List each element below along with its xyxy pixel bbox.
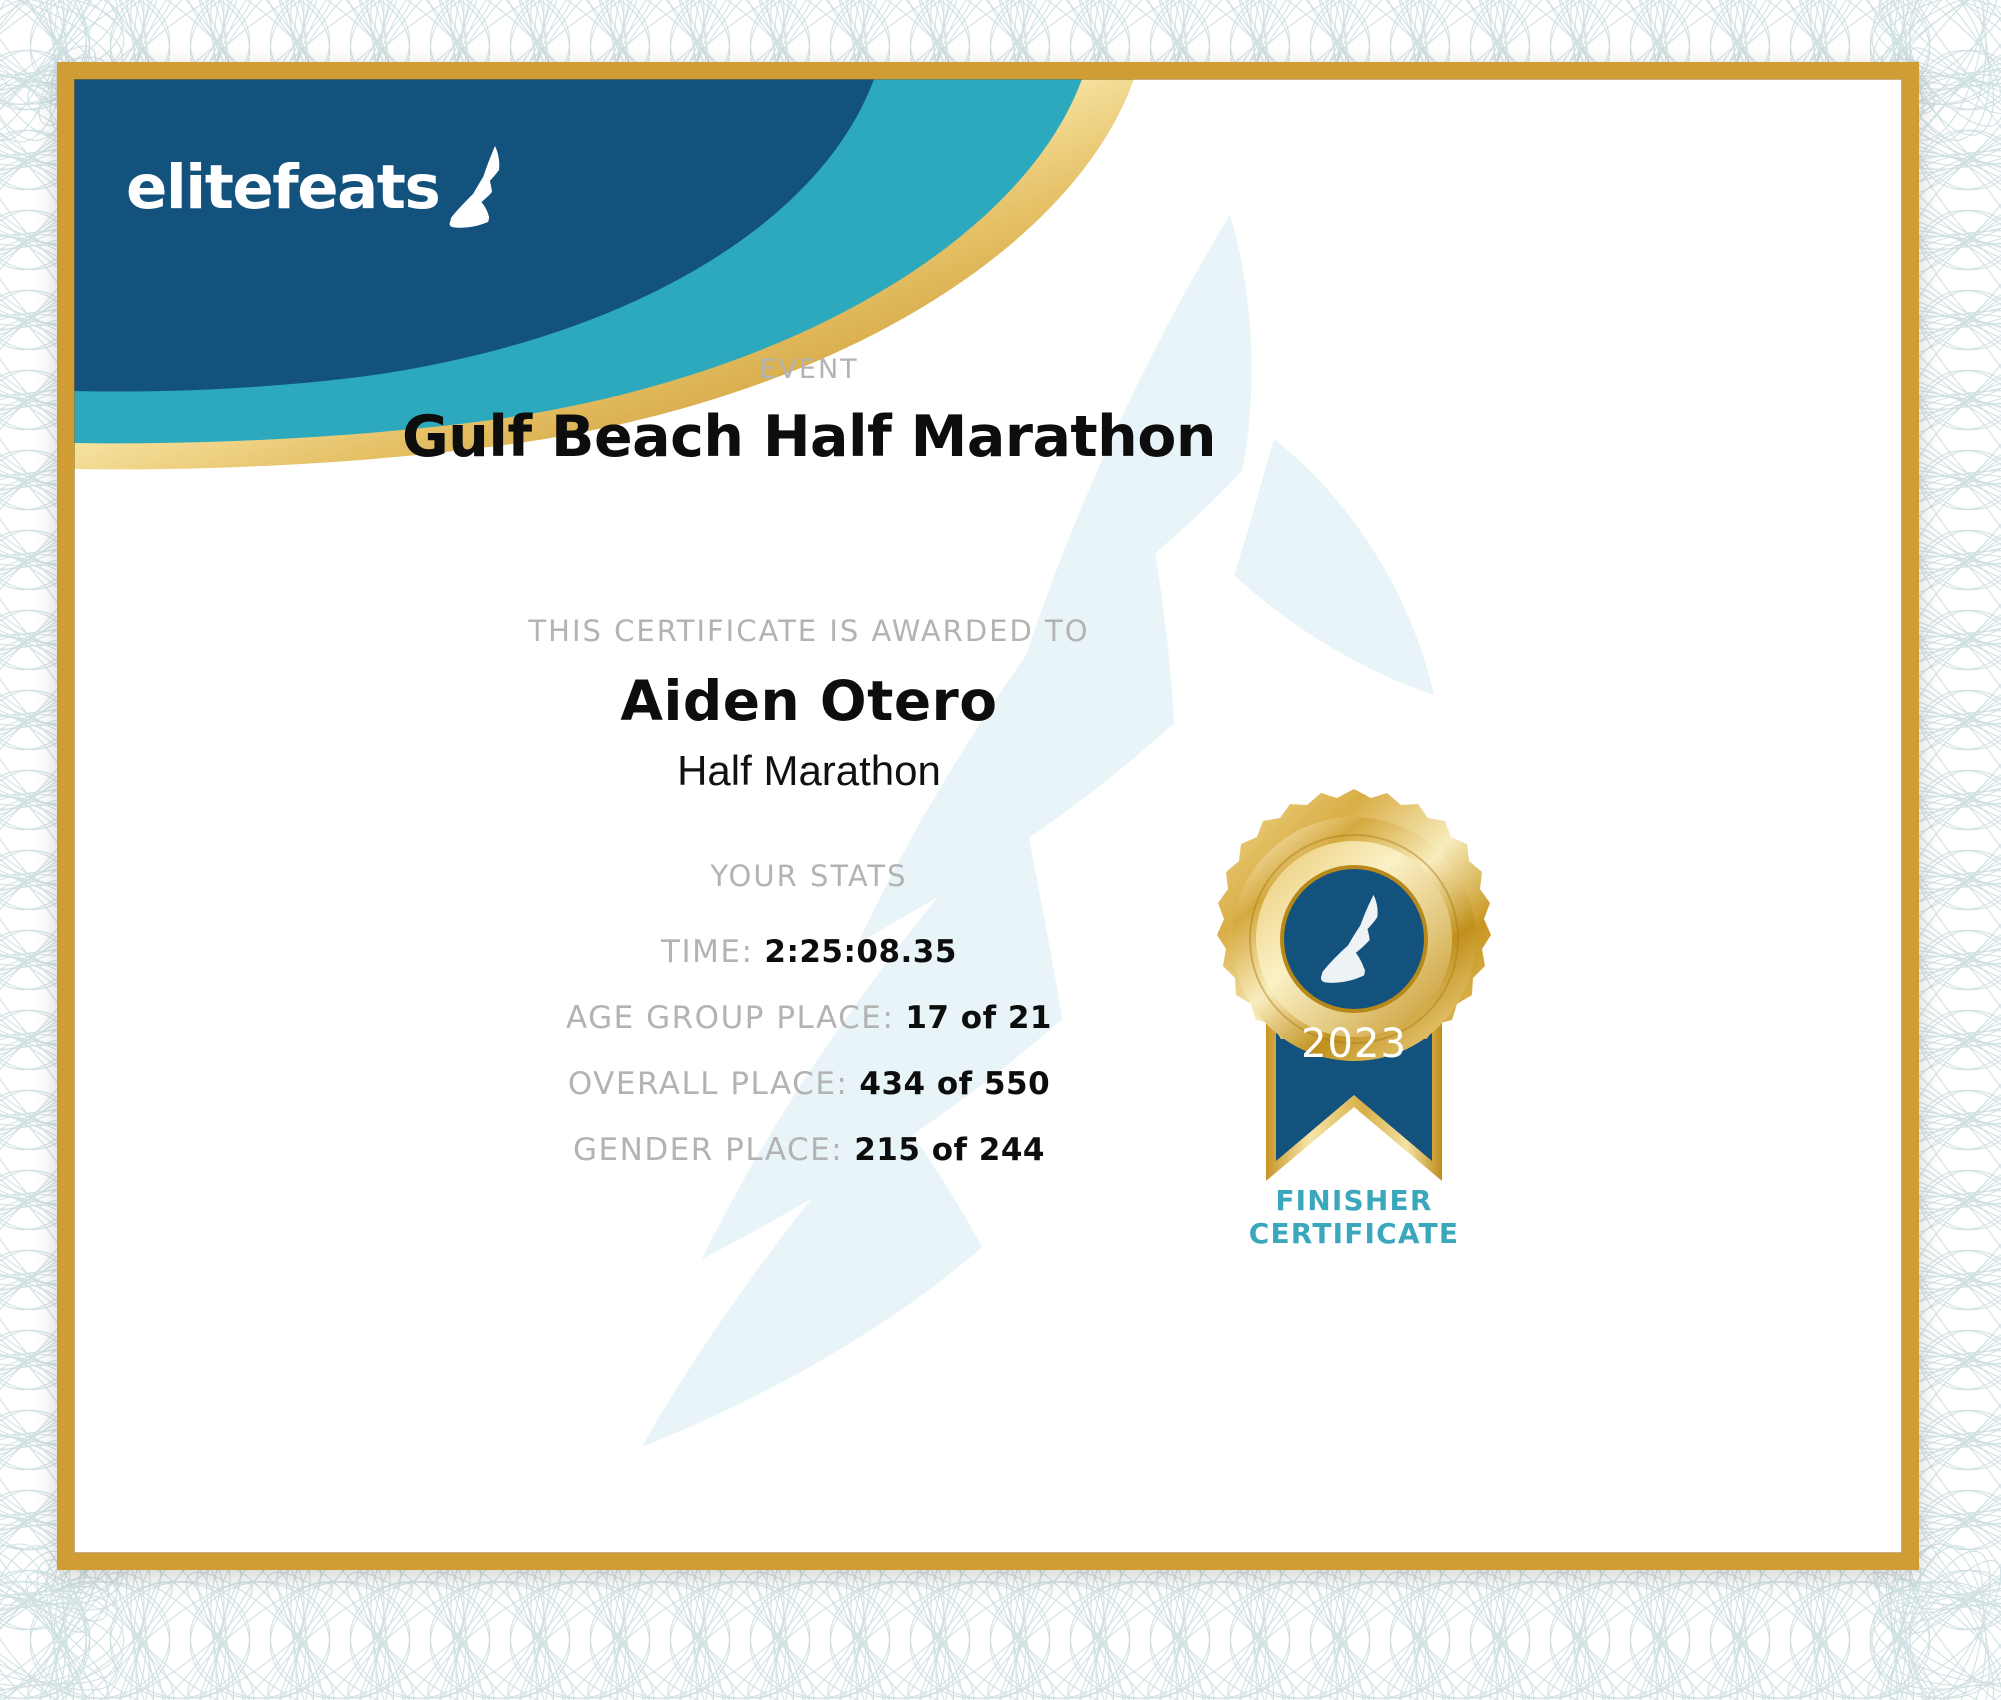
seal-caption-line1: FINISHER	[1194, 1184, 1514, 1217]
recipient-name: Aiden Otero	[74, 669, 1544, 733]
stat-value: 215 of 244	[854, 1132, 1045, 1168]
seal-caption: FINISHER CERTIFICATE	[1194, 1184, 1514, 1250]
stat-value: 434 of 550	[859, 1066, 1050, 1102]
stat-label: OVERALL PLACE:	[568, 1066, 849, 1102]
stat-label: TIME:	[661, 934, 753, 970]
seal-caption-line2: CERTIFICATE	[1194, 1217, 1514, 1250]
winged-foot-icon	[445, 144, 517, 230]
certificate-page: elitefeats EVENT Gulf Beach Half Maratho…	[0, 0, 2001, 1700]
finisher-seal: 2023 FINISHER CERTIFICATE	[1194, 789, 1514, 1269]
logo-wordmark: elitefeats	[126, 157, 439, 218]
awarded-to-label: THIS CERTIFICATE IS AWARDED TO	[74, 614, 1544, 648]
stat-label: AGE GROUP PLACE:	[566, 1000, 894, 1036]
gold-medal-seal-icon: 2023	[1194, 789, 1514, 1189]
stat-value: 2:25:08.35	[764, 934, 957, 970]
event-title: Gulf Beach Half Marathon	[74, 404, 1544, 470]
seal-year: 2023	[1301, 1021, 1407, 1067]
elitefeats-logo: elitefeats	[126, 144, 517, 230]
certificate-canvas: elitefeats EVENT Gulf Beach Half Maratho…	[74, 79, 1902, 1553]
stat-value: 17 of 21	[905, 1000, 1052, 1036]
recipient-event-name: Half Marathon	[74, 747, 1544, 795]
stat-label: GENDER PLACE:	[573, 1132, 843, 1168]
event-label: EVENT	[74, 354, 1544, 385]
certificate-gold-frame: elitefeats EVENT Gulf Beach Half Maratho…	[57, 62, 1919, 1570]
